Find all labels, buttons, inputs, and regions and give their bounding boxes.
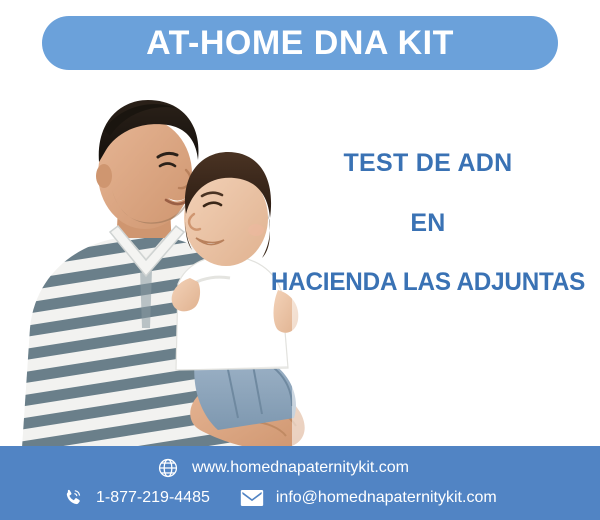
footer-contact-row: 1-877-219-4485 info@homednapaternitykit.… xyxy=(60,486,497,510)
envelope-icon xyxy=(240,486,264,510)
phone-icon xyxy=(60,486,84,510)
dna-test-poster: AT-HOME DNA KIT xyxy=(0,0,600,520)
email-item[interactable]: info@homednapaternitykit.com xyxy=(240,486,497,510)
website-label: www.homednapaternitykit.com xyxy=(192,460,409,476)
globe-icon xyxy=(156,456,180,480)
headline-block: TEST DE ADN EN HACIENDA LAS ADJUNTAS xyxy=(256,150,600,297)
footer-website-row: www.homednapaternitykit.com xyxy=(156,456,409,480)
phone-label: 1-877-219-4485 xyxy=(96,490,210,506)
banner-title: AT-HOME DNA KIT xyxy=(146,26,454,60)
email-label: info@homednapaternitykit.com xyxy=(276,490,497,506)
banner-pill: AT-HOME DNA KIT xyxy=(42,16,558,70)
headline-line-1: TEST DE ADN xyxy=(256,150,600,178)
phone-item[interactable]: 1-877-219-4485 xyxy=(60,486,210,510)
headline-line-2: EN xyxy=(256,210,600,238)
contact-footer: www.homednapaternitykit.com 1-877-219-44… xyxy=(0,446,600,520)
website-item[interactable]: www.homednapaternitykit.com xyxy=(156,456,409,480)
headline-line-3: HACIENDA LAS ADJUNTAS xyxy=(261,269,595,297)
